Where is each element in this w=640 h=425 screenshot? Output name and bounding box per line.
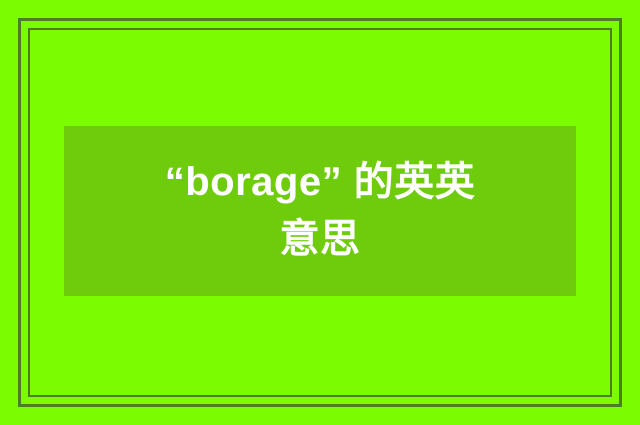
poster-canvas: “borage” 的英英意思 [0, 0, 640, 425]
page-title: “borage” 的英英意思 [155, 154, 485, 268]
title-card: “borage” 的英英意思 [64, 126, 576, 296]
